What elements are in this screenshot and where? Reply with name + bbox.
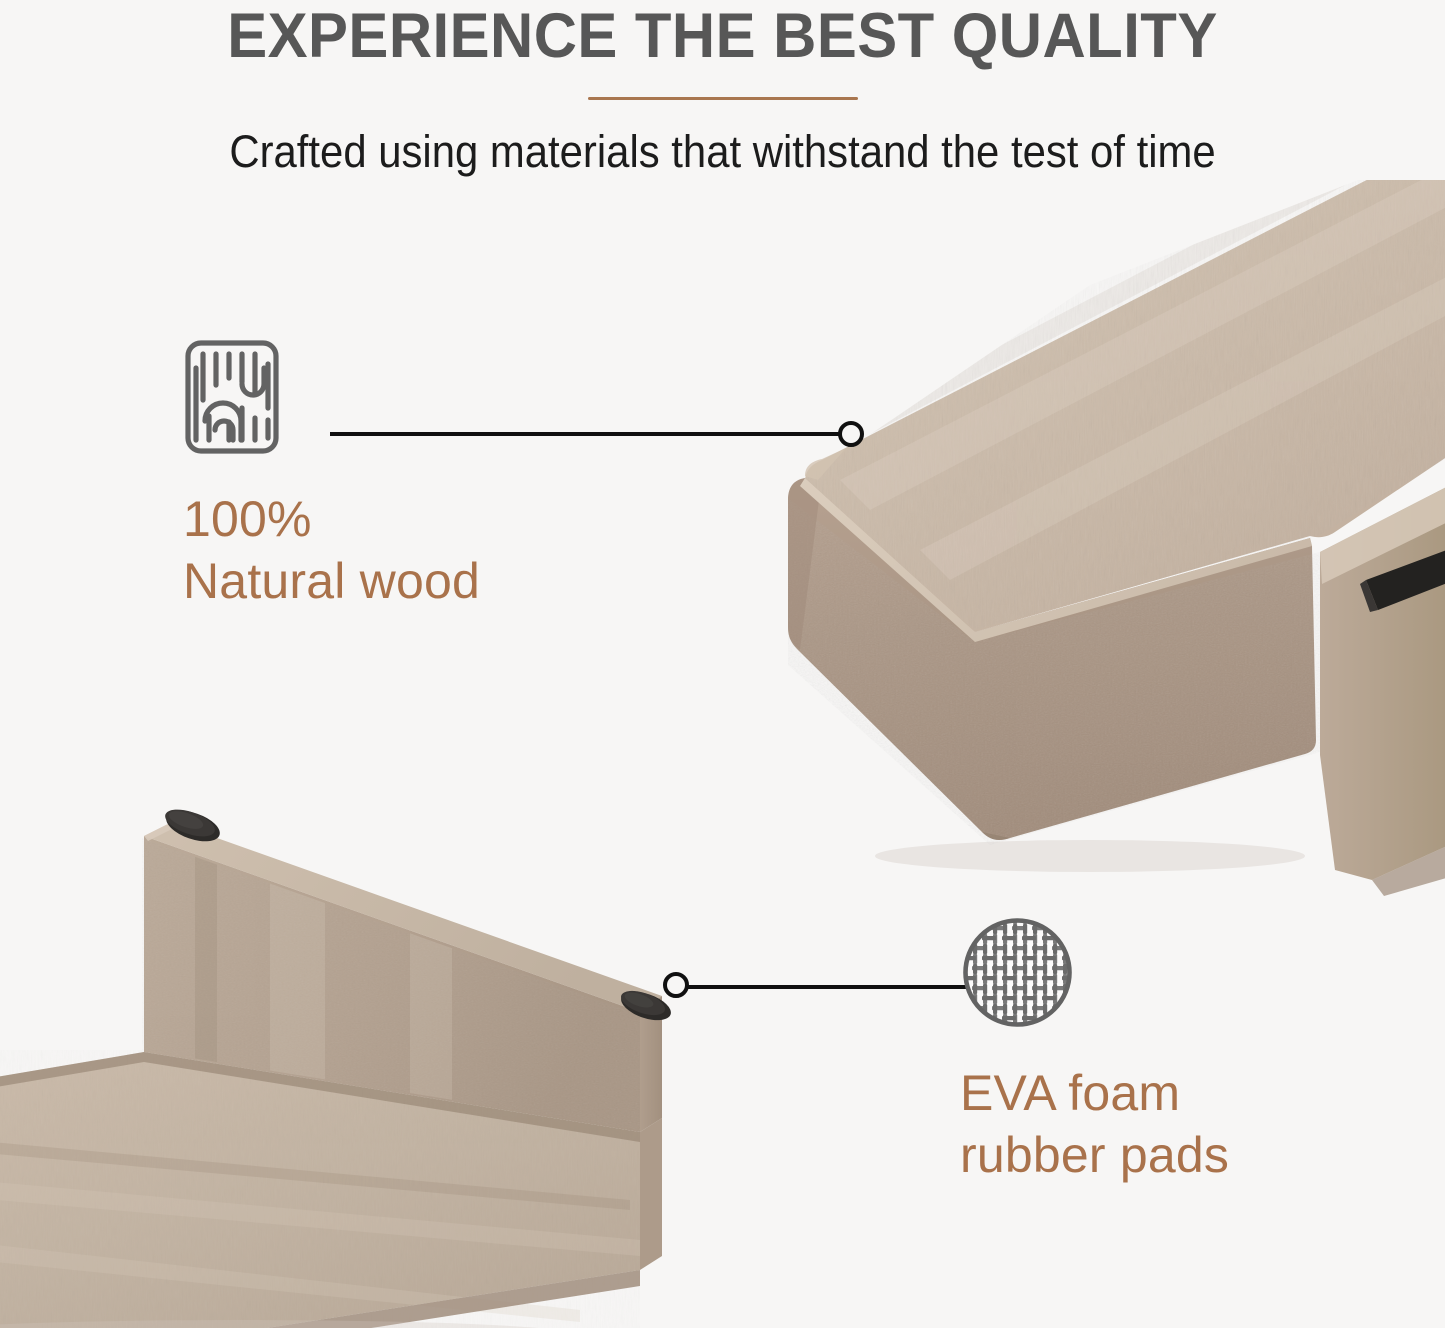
leader-line-eva-foam [688,985,978,989]
callout-natural-wood: 100% Natural wood [183,338,603,612]
callout-natural-wood-line2: Natural wood [183,550,603,612]
wooden-riser-underside-illustration [0,800,720,1328]
callout-eva-foam-label: EVA foam rubber pads [960,1062,1380,1186]
page-subtitle: Crafted using materials that withstand t… [51,100,1395,178]
page-title: EXPERIENCE THE BEST QUALITY [36,0,1409,70]
callout-eva-foam-line2: rubber pads [960,1124,1380,1186]
callout-eva-foam-line1: EVA foam [960,1065,1180,1121]
wooden-riser-top-illustration [760,180,1445,900]
header-block: EXPERIENCE THE BEST QUALITY Crafted usin… [0,0,1445,178]
leader-dot-eva-foam [663,972,689,998]
infographic-canvas: EXPERIENCE THE BEST QUALITY Crafted usin… [0,0,1445,1328]
callout-eva-foam: EVA foam rubber pads [960,915,1380,1186]
leader-dot-natural-wood [838,421,864,447]
product-image-top [760,180,1445,900]
product-image-bottom [0,800,720,1328]
woven-foam-icon [960,915,1075,1030]
callout-natural-wood-line1: 100% [183,491,312,547]
wood-grain-icon [183,338,281,456]
callout-natural-wood-label: 100% Natural wood [183,488,603,612]
